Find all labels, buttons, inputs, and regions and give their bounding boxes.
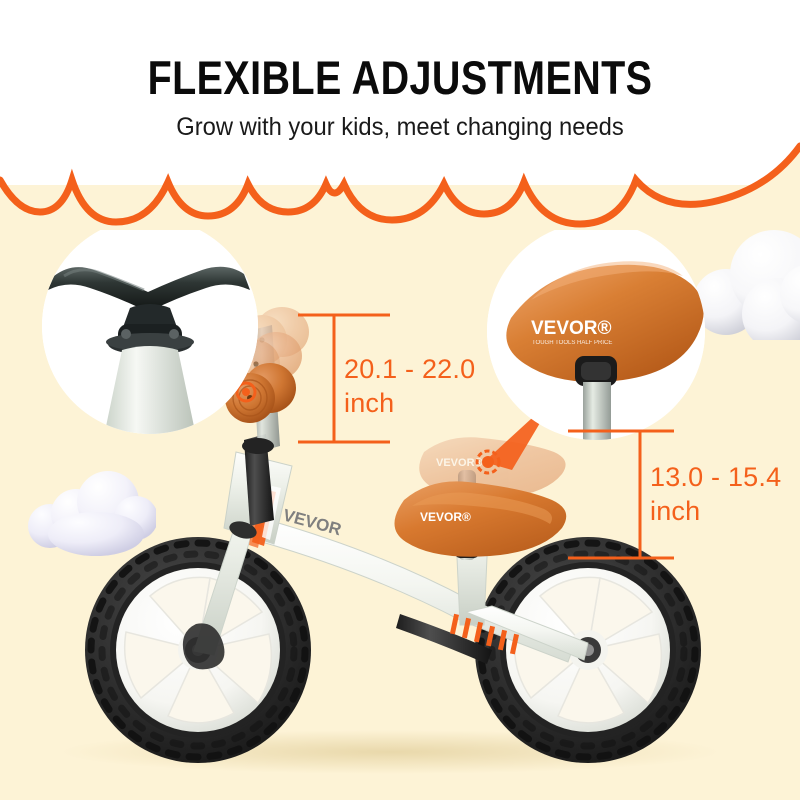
cloud-decoration-left — [24, 462, 156, 563]
poster-header: FLEXIBLE ADJUSTMENTS Grow with your kids… — [0, 0, 800, 185]
dimension-label-seat-height: 13.0 - 15.4 inch — [650, 460, 781, 528]
svg-text:TOUGH TOOLS HALF PRICE: TOUGH TOOLS HALF PRICE — [532, 340, 612, 346]
dimension-label-handlebar-height: 20.1 - 22.0 inch — [344, 352, 475, 420]
callout-handlebar-closeup — [42, 218, 258, 434]
product-feature-poster: VEVOR — [0, 0, 800, 800]
cloud-decoration-right — [692, 228, 800, 345]
page-subtitle: Grow with your kids, meet changing needs — [20, 113, 780, 142]
page-title: FLEXIBLE ADJUSTMENTS — [64, 50, 736, 105]
callout-saddle-closeup: VEVOR® TOUGH TOOLS HALF PRICE — [487, 222, 705, 440]
saddle-closeup-brand-text: VEVOR® — [531, 318, 612, 339]
